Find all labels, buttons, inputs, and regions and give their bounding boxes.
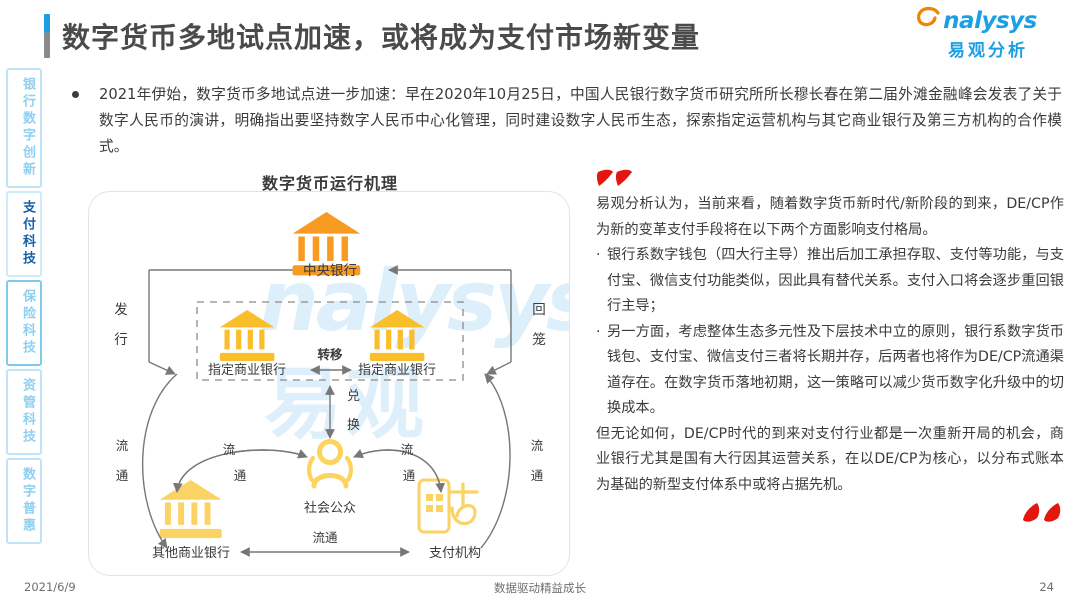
- label-circ-public-left-1: 流: [223, 442, 236, 457]
- footer: 2021/6/9 数据驱动精益成长 24: [0, 580, 1080, 598]
- designated-bank-right-icon: [370, 310, 425, 361]
- label-circ-right-2: 通: [531, 468, 544, 483]
- diagram-card: nalysys 易观 中央银行: [88, 191, 570, 576]
- quote-close-icon: [1020, 500, 1064, 524]
- commentary-outro: 但无论如何，DE/CP时代的到来对支付行业都是一次重新开局的机会，商业银行尤其是…: [596, 422, 1064, 499]
- footer-slogan: 数据驱动精益成长: [0, 580, 1080, 596]
- commentary-point-2: · 另一方面，考虑整体生态多元性及下层技术中立的原则，银行系数字货币钱包、支付宝…: [596, 320, 1064, 422]
- label-circ-left-1: 流: [116, 438, 129, 453]
- label-circ-left-2: 通: [116, 468, 129, 483]
- label-designated-bank-left: 指定商业银行: [208, 363, 286, 378]
- label-circ-public-left-2: 通: [234, 468, 247, 483]
- title-accent-bar: [44, 14, 50, 58]
- label-transfer: 转移: [317, 347, 343, 362]
- label-circ-bottom: 流通: [312, 530, 338, 545]
- designated-bank-left-icon: [220, 310, 275, 361]
- list-bullet-icon: ·: [596, 243, 607, 320]
- logo-swirl-icon: [916, 6, 942, 32]
- list-bullet-icon: ·: [596, 320, 607, 422]
- intro-bullet-text: 2021年伊始，数字货币多地试点进一步加速：早在2020年10月25日，中国人民…: [99, 82, 1062, 160]
- label-circ-right-1: 流: [531, 438, 544, 453]
- label-central-bank: 中央银行: [303, 263, 357, 279]
- sidebar-item-asset-management-tech[interactable]: 资管科技: [6, 369, 42, 455]
- label-exchange-2: 换: [347, 418, 360, 433]
- commentary-point-1: · 银行系数字钱包（四大行主导）推出后加工承担存取、支付等功能，与支付宝、微信支…: [596, 243, 1064, 320]
- payment-org-icon: [419, 480, 477, 532]
- logo-main-text: nalysys: [943, 8, 1037, 34]
- public-people-icon: [309, 442, 351, 487]
- diagram-graphic: 中央银行 指定商业银行 指定商业银行 转移 兑 换: [89, 192, 570, 576]
- brand-logo: nalysys 易观分析: [920, 10, 1056, 62]
- commentary-panel: 易观分析认为，当前来看，随着数字货币新时代/新阶段的到来，DE/CP作为新的变革…: [596, 168, 1064, 524]
- label-circ-public-right-1: 流: [401, 442, 414, 457]
- intro-bullet: 2021年伊始，数字货币多地试点进一步加速：早在2020年10月25日，中国人民…: [72, 82, 1062, 160]
- page-title: 数字货币多地试点加速，或将成为支付市场新变量: [62, 16, 700, 56]
- logo-wordmark: nalysys: [920, 10, 1056, 33]
- label-other-bank: 其他商业银行: [152, 546, 230, 561]
- bullet-dot-icon: [72, 91, 79, 98]
- page-title-row: 数字货币多地试点加速，或将成为支付市场新变量: [44, 14, 700, 58]
- sidebar-item-payment-tech[interactable]: 支付科技: [6, 191, 42, 277]
- footer-page-number: 24: [1039, 580, 1054, 594]
- label-designated-bank-right: 指定商业银行: [358, 363, 436, 378]
- label-exchange-1: 兑: [347, 389, 360, 404]
- label-issue-2: 行: [114, 332, 128, 348]
- sidebar[interactable]: 银行数字创新 支付科技 保险科技 资管科技 数字普惠: [6, 68, 42, 544]
- sidebar-item-insurance-tech[interactable]: 保险科技: [6, 280, 42, 366]
- sidebar-item-bank-digital-innovation[interactable]: 银行数字创新: [6, 68, 42, 188]
- other-bank-icon: [160, 480, 222, 538]
- label-withdraw-2: 笼: [532, 331, 546, 348]
- sidebar-item-digital-inclusive-finance[interactable]: 数字普惠: [6, 458, 42, 544]
- label-public: 社会公众: [304, 500, 356, 516]
- quote-open-icon: [596, 168, 636, 190]
- label-issue-1: 发: [114, 302, 128, 318]
- label-circ-public-right-2: 通: [403, 468, 416, 483]
- label-payment-org: 支付机构: [429, 546, 481, 561]
- logo-sub-text: 易观分析: [920, 36, 1056, 61]
- label-withdraw-1: 回: [532, 302, 546, 318]
- commentary-intro: 易观分析认为，当前来看，随着数字货币新时代/新阶段的到来，DE/CP作为新的变革…: [596, 192, 1064, 243]
